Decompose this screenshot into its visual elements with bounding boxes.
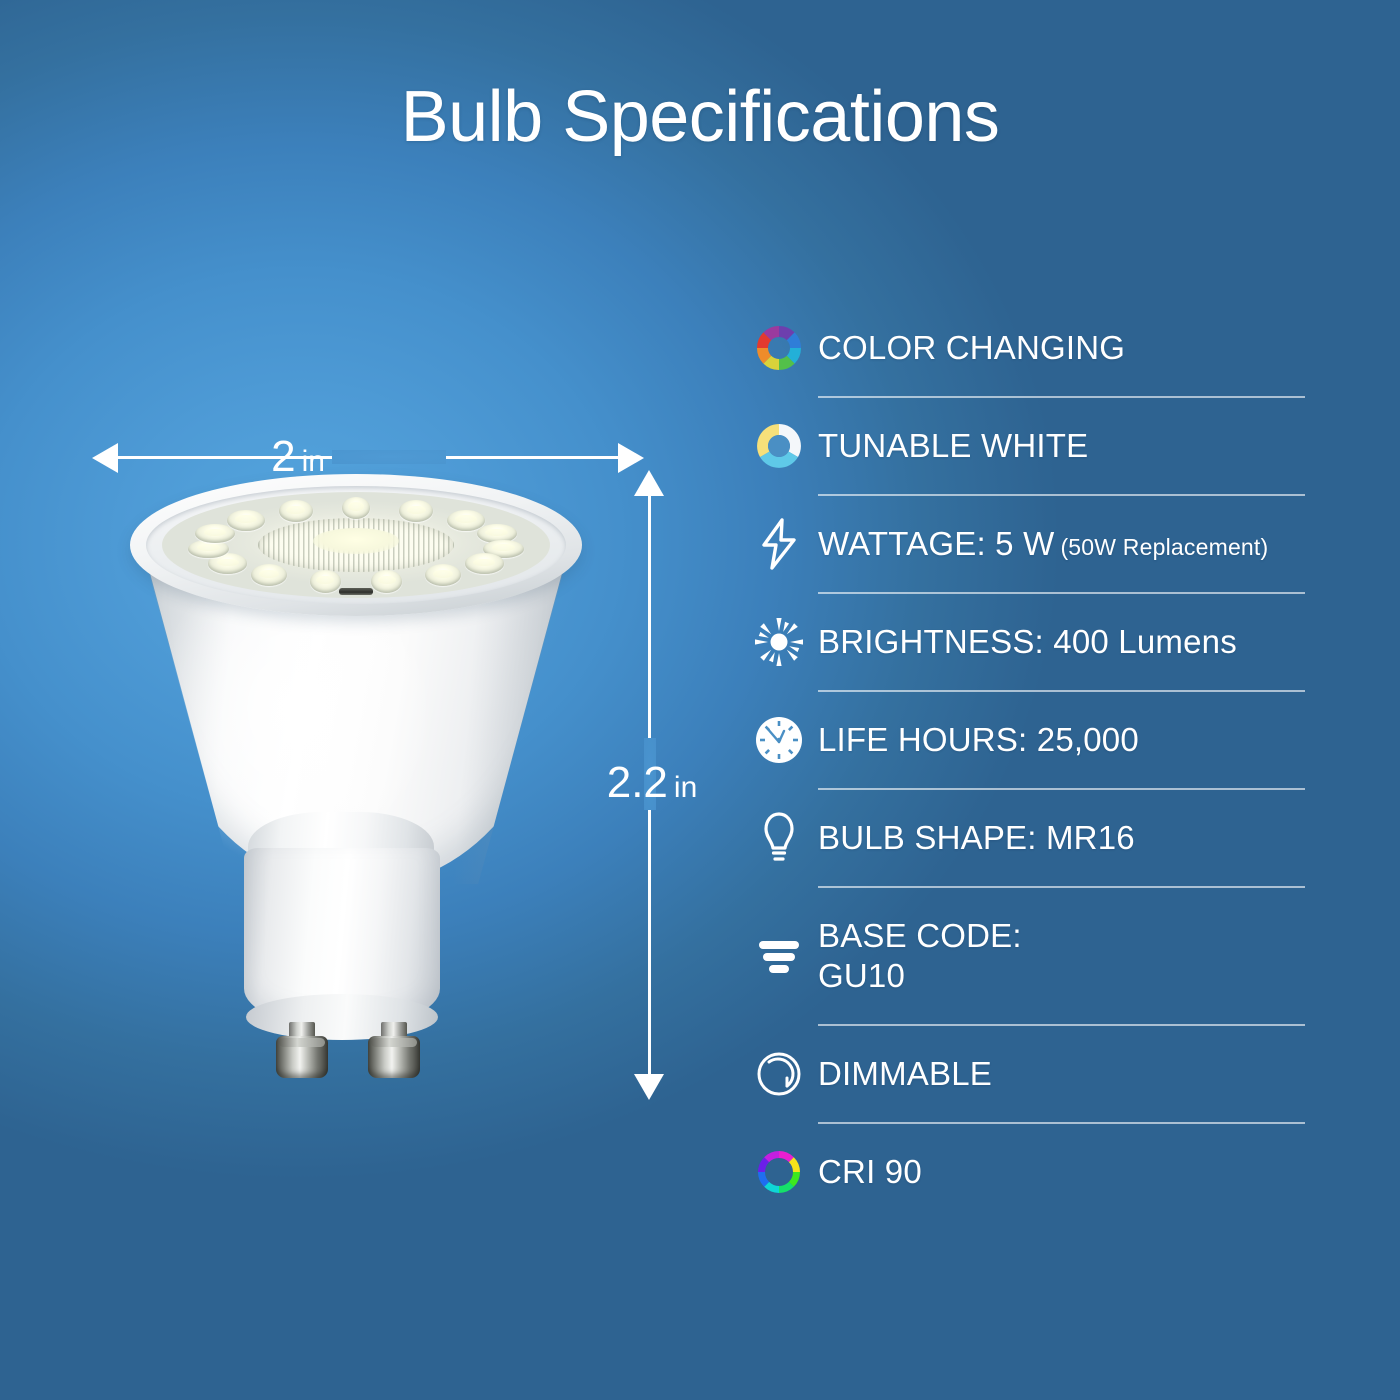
spec-row-wattage: WATTAGE: 5 W(50W Replacement)	[740, 496, 1320, 592]
bulb-lens-face	[162, 492, 550, 598]
spec-label-brightness: BRIGHTNESS: 400 Lumens	[818, 622, 1237, 662]
led-lens	[399, 500, 433, 522]
led-lens	[227, 510, 265, 531]
infographic-canvas: Bulb Specifications 2in	[0, 0, 1400, 1400]
base-code-value: GU10	[818, 956, 1022, 996]
base-socket-icon	[740, 934, 818, 978]
spec-label-tunable-white: TUNABLE WHITE	[818, 426, 1088, 466]
gu10-pin-left	[276, 1022, 328, 1078]
spec-row-base-code: BASE CODE: GU10	[740, 888, 1320, 1024]
width-dimension-arrow	[92, 440, 644, 474]
arrow-up-icon	[634, 470, 664, 496]
spec-label-cri: CRI 90	[818, 1152, 922, 1192]
gu10-pin-right	[368, 1022, 420, 1078]
arrow-right-icon	[618, 443, 644, 473]
spec-row-cri: CRI 90	[740, 1124, 1320, 1220]
dimmer-dial-icon	[740, 1048, 818, 1100]
led-lens	[195, 524, 235, 544]
spec-row-bulb-shape: BULB SHAPE: MR16	[740, 790, 1320, 886]
cri-rainbow-ring-icon	[740, 1146, 818, 1198]
led-lens	[342, 497, 371, 520]
bulb-emitter-chip	[339, 588, 373, 595]
led-lens	[251, 564, 287, 586]
led-lens	[465, 553, 504, 573]
spec-label-bulb-shape: BULB SHAPE: MR16	[818, 818, 1135, 858]
height-dimension-label: 2.2in	[592, 758, 712, 808]
bulb-outline-icon	[740, 810, 818, 866]
specifications-list: COLOR CHANGING TUNABLE WHITE	[740, 300, 1320, 1220]
spec-row-dimmable: DIMMABLE	[740, 1026, 1320, 1122]
spec-label-life-hours: LIFE HOURS: 25,000	[818, 720, 1139, 760]
spec-label-base-code: BASE CODE: GU10	[818, 916, 1022, 997]
product-image	[96, 466, 616, 1086]
spec-label-wattage: WATTAGE: 5 W(50W Replacement)	[818, 524, 1268, 564]
spec-row-color-changing: COLOR CHANGING	[740, 300, 1320, 396]
arrow-left-icon	[92, 443, 118, 473]
led-lens	[425, 564, 461, 586]
led-lens	[310, 570, 341, 593]
width-dimension-label: 2in	[236, 432, 360, 482]
clock-icon	[740, 714, 818, 766]
led-lens	[279, 500, 313, 522]
arrow-down-icon	[634, 1074, 664, 1100]
tunable-white-icon	[740, 420, 818, 472]
spec-label-dimmable: DIMMABLE	[818, 1054, 992, 1094]
page-title: Bulb Specifications	[0, 76, 1400, 158]
bulb-emitter-core	[313, 528, 399, 554]
height-unit: in	[674, 771, 697, 804]
spec-row-brightness: BRIGHTNESS: 400 Lumens	[740, 594, 1320, 690]
spec-label-color-changing: COLOR CHANGING	[818, 328, 1125, 368]
spec-row-tunable-white: TUNABLE WHITE	[740, 398, 1320, 494]
sun-icon	[740, 615, 818, 669]
lightning-bolt-icon	[740, 517, 818, 571]
color-wheel-icon	[740, 322, 818, 374]
base-code-title: BASE CODE:	[818, 916, 1022, 956]
spec-row-life-hours: LIFE HOURS: 25,000	[740, 692, 1320, 788]
height-value: 2.2	[607, 758, 668, 807]
width-value: 2	[271, 432, 295, 481]
led-lens	[371, 570, 402, 593]
wattage-replacement: (50W Replacement)	[1060, 534, 1268, 560]
wattage-value: WATTAGE: 5 W	[818, 525, 1054, 562]
width-unit: in	[302, 445, 325, 478]
